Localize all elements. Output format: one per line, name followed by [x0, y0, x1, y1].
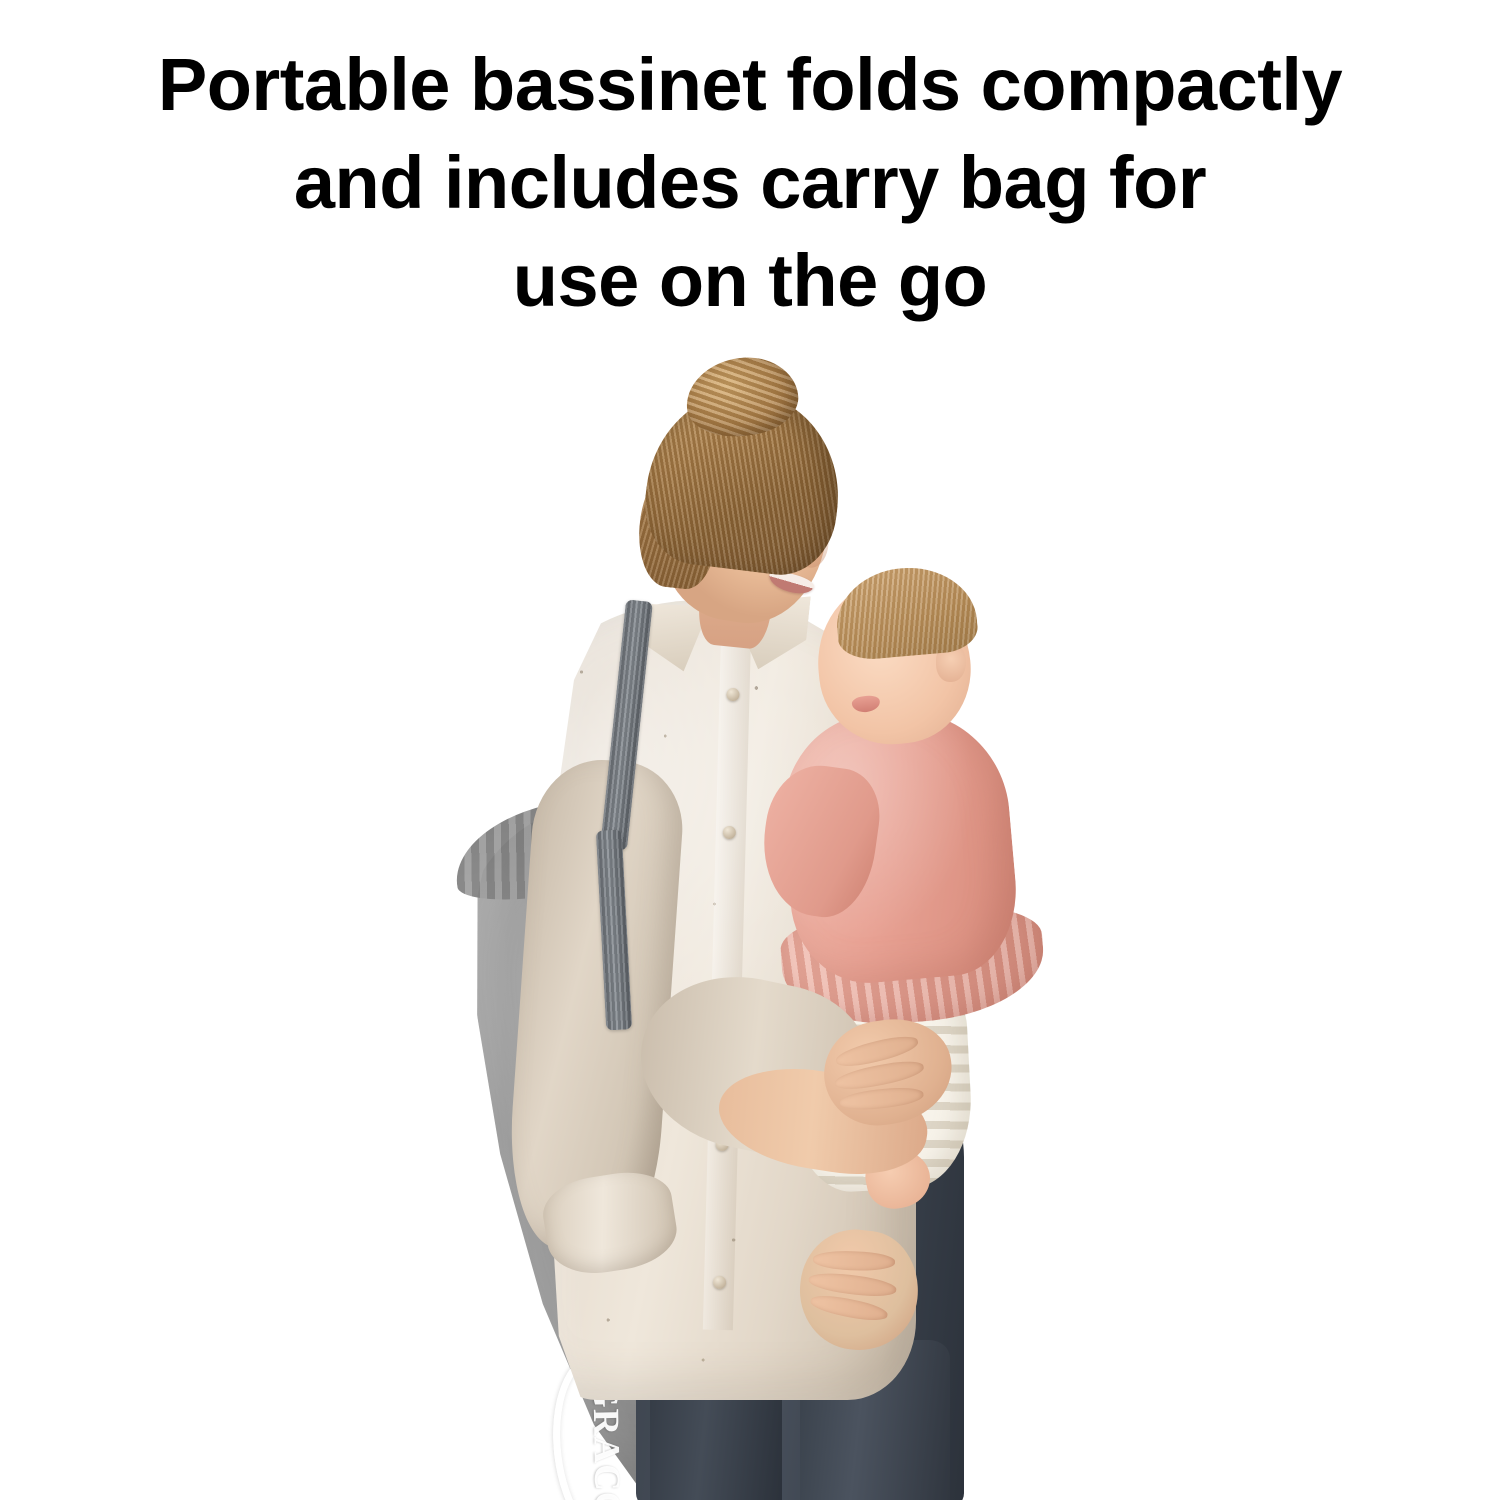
- product-feature-image: Portable bassinet folds compactly and in…: [0, 0, 1500, 1500]
- shirt-button: [723, 826, 736, 839]
- page-title: Portable bassinet folds compactly and in…: [90, 36, 1410, 330]
- headline-line-2: and includes carry bag for: [90, 134, 1410, 232]
- headline-line-3: use on the go: [90, 232, 1410, 330]
- lifestyle-photo: GRACO ®: [0, 330, 1500, 1500]
- finger: [809, 1292, 889, 1325]
- shirt-button: [713, 1276, 726, 1289]
- baby-hair: [832, 562, 979, 662]
- finger: [813, 1250, 896, 1272]
- headline-line-1: Portable bassinet folds compactly: [90, 36, 1410, 134]
- shirt-button: [726, 688, 739, 701]
- finger: [839, 1085, 925, 1113]
